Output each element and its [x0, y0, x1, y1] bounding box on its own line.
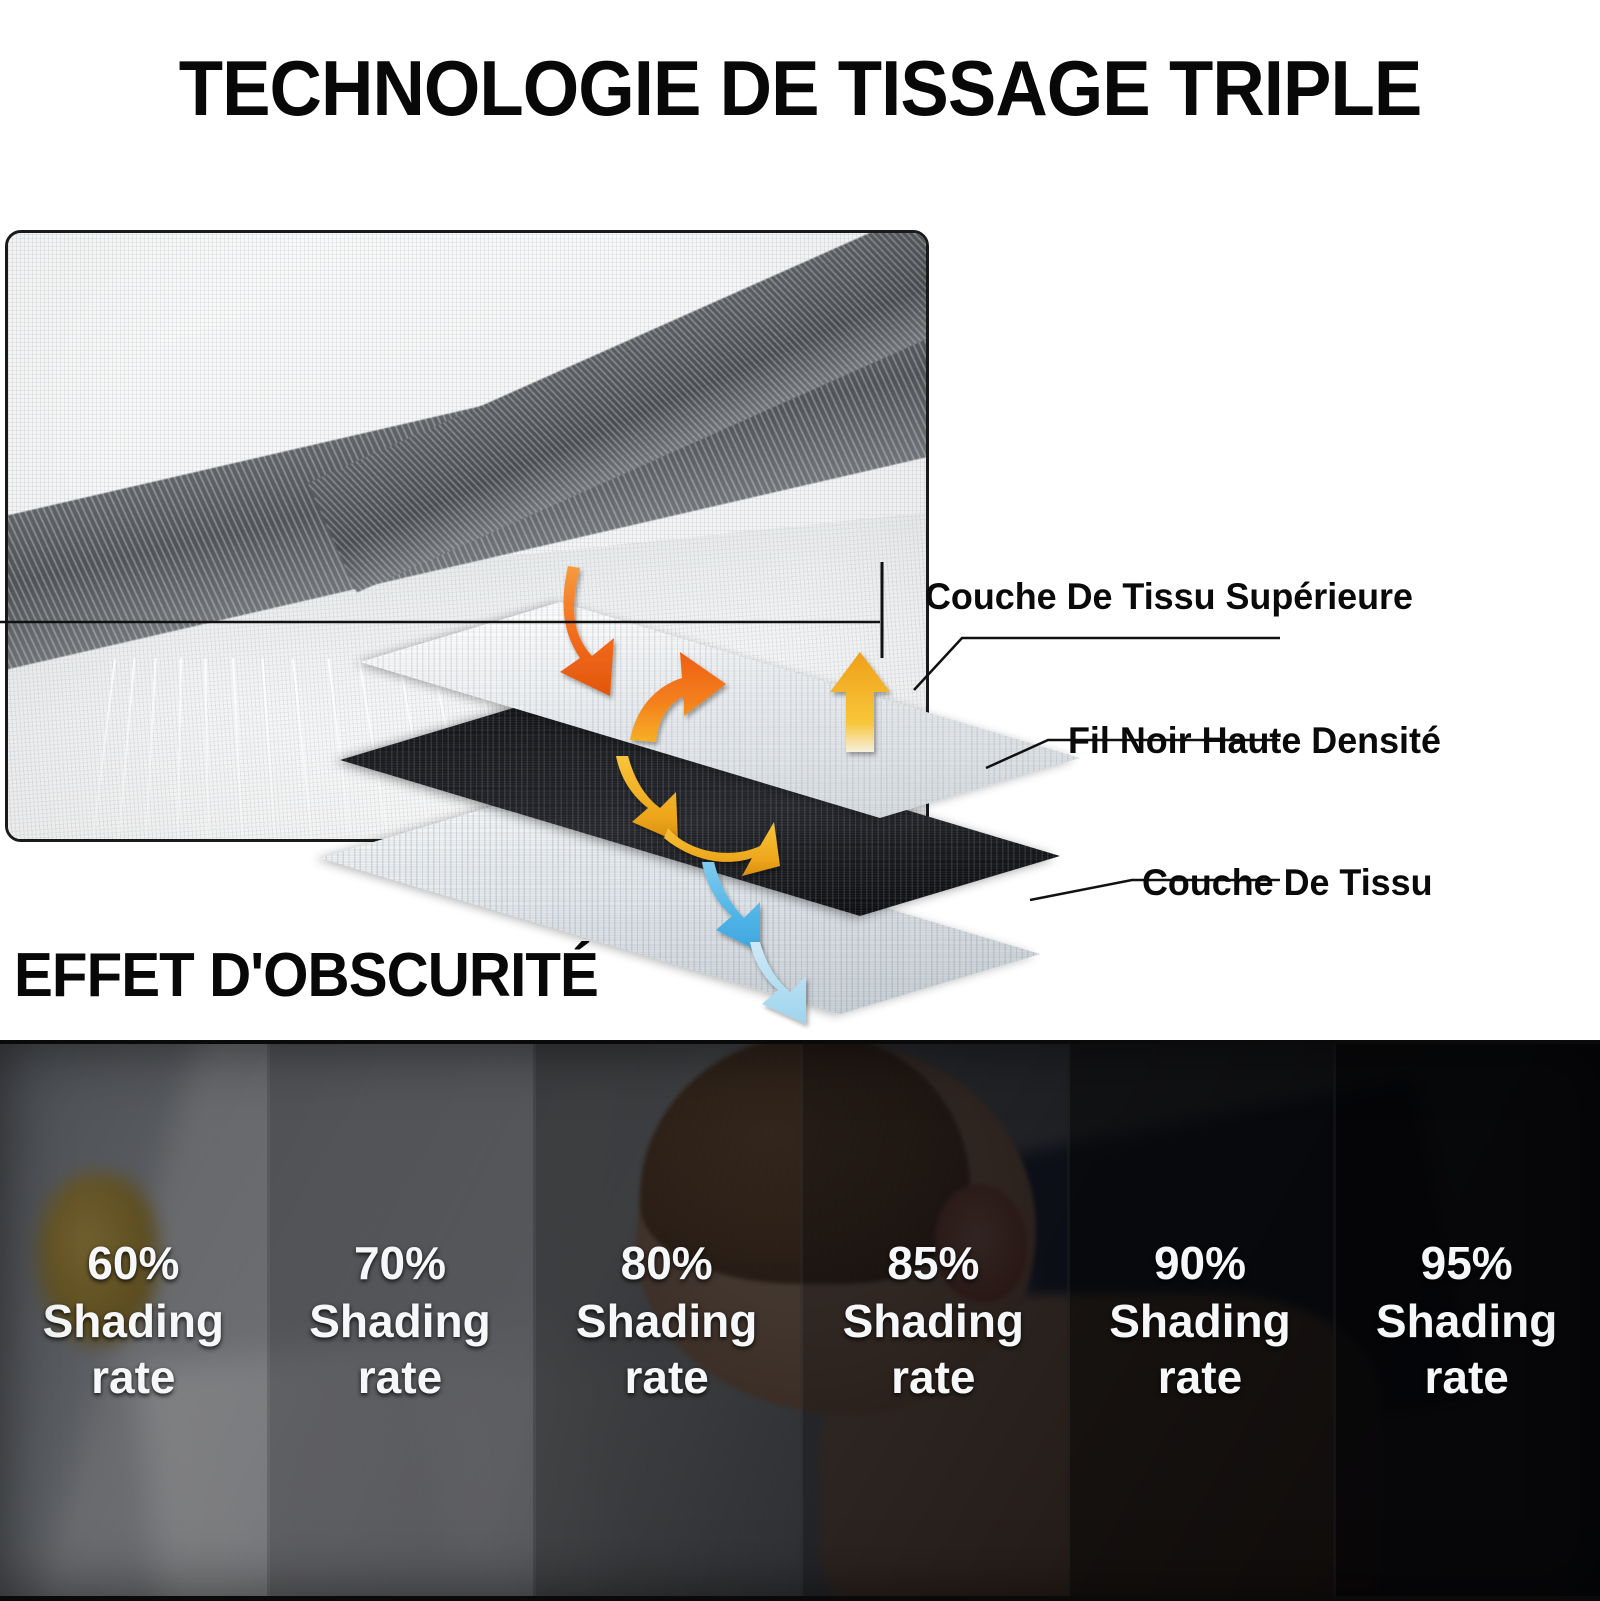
shading-percent: 70% — [354, 1235, 446, 1291]
shading-panel-80: 80%Shadingrate — [533, 1044, 800, 1596]
shading-panel-60: 60%Shadingrate — [0, 1044, 267, 1596]
shading-panel-85: 85%Shadingrate — [800, 1044, 1067, 1596]
leader-line-top — [914, 638, 1280, 690]
shading-percent: 95% — [1421, 1235, 1513, 1291]
label-couche-de-tissu: Couche De Tissu — [1142, 862, 1433, 904]
shading-rate-label: Shadingrate — [1376, 1293, 1557, 1405]
panel-divider — [800, 1044, 803, 1596]
shading-percent: 80% — [621, 1235, 713, 1291]
shading-rate-label: Shadingrate — [843, 1293, 1024, 1405]
light-block-arrow — [702, 862, 760, 952]
shading-rate-label: Shadingrate — [309, 1293, 490, 1405]
section-heading-effet-obscurite: EFFET D'OBSCURITÉ — [14, 940, 598, 1012]
shading-panel-95: 95%Shadingrate — [1333, 1044, 1600, 1596]
label-couche-de-tissu-superieure: Couche De Tissu Supérieure — [925, 576, 1413, 618]
heat-in-arrow — [560, 566, 614, 696]
shading-percent: 90% — [1154, 1235, 1246, 1291]
shading-percent: 60% — [87, 1235, 179, 1291]
shading-rate-label: Shadingrate — [1109, 1293, 1290, 1405]
shading-panel-70: 70%Shadingrate — [267, 1044, 534, 1596]
page-title: TECHNOLOGIE DE TISSAGE TRIPLE — [56, 42, 1544, 134]
shading-panel-90: 90%Shadingrate — [1067, 1044, 1334, 1596]
light-escape-arrow — [750, 942, 806, 1024]
label-fil-noir-haute-densite: Fil Noir Haute Densité — [1068, 720, 1441, 762]
panel-divider — [267, 1044, 270, 1596]
shading-rate-strip: 60%Shadingrate70%Shadingrate80%Shadingra… — [0, 1040, 1600, 1601]
shading-rate-label: Shadingrate — [576, 1293, 757, 1405]
shading-rate-label: Shadingrate — [43, 1293, 224, 1405]
panel-divider — [533, 1044, 536, 1596]
panel-divider — [1333, 1044, 1336, 1596]
panel-divider — [1067, 1044, 1070, 1596]
heat-deflect-arrow — [664, 822, 780, 876]
shading-percent: 85% — [887, 1235, 979, 1291]
heat-reflect-arrow — [630, 652, 726, 742]
